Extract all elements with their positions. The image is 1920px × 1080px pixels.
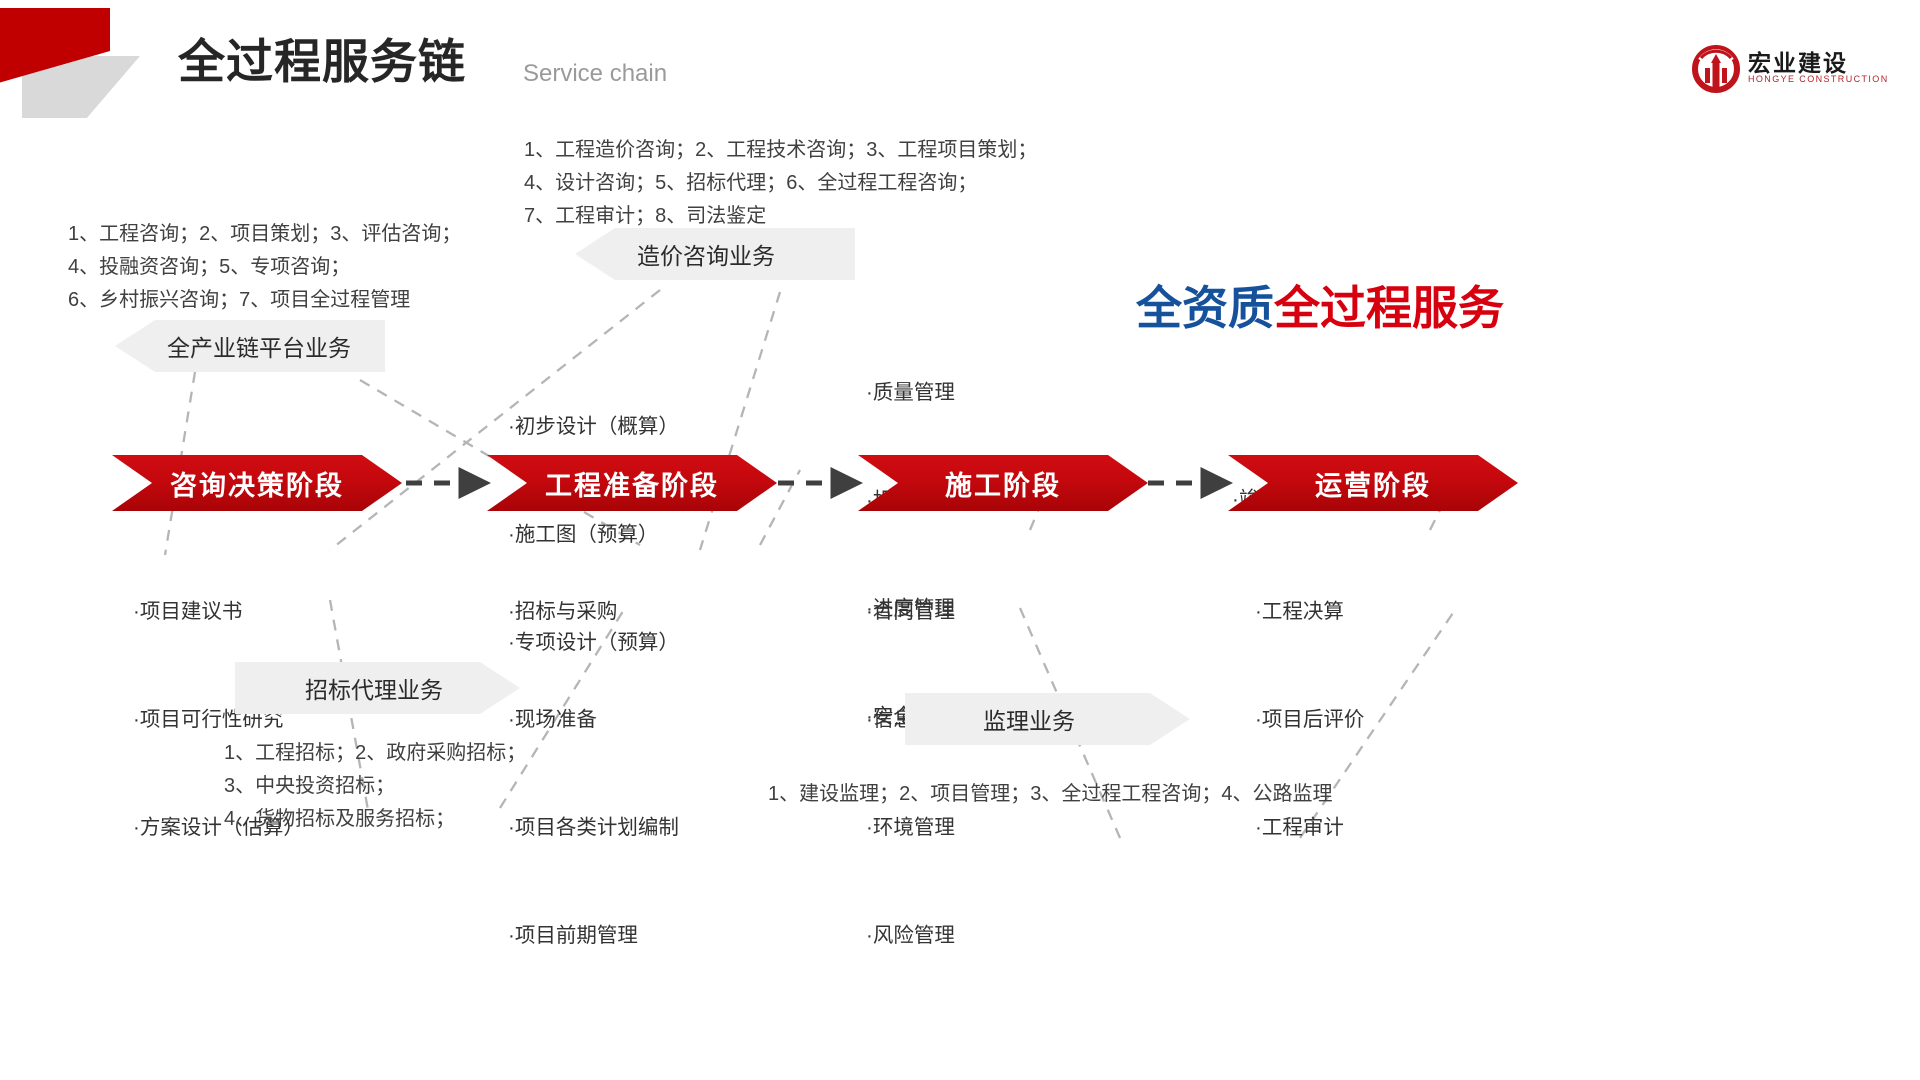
- logo-mark-icon: [1690, 42, 1742, 94]
- chevron-full-chain-platform[interactable]: 全产业链平台业务: [115, 320, 385, 372]
- slogan-blue-text: 全资质: [1136, 282, 1274, 334]
- note-full-chain: 1、工程咨询；2、项目策划；3、评估咨询； 4、投融资咨询；5、专项咨询； 6、…: [68, 218, 461, 317]
- stage-arrow-1[interactable]: 咨询决策阶段: [112, 455, 402, 511]
- list-item: ·项目各类计划编制: [508, 810, 679, 846]
- chevron-bidding-agency-label: 招标代理业务: [305, 671, 443, 705]
- page-subtitle: Service chain: [523, 60, 667, 88]
- chevron-cost-consulting[interactable]: 造价咨询业务: [575, 228, 855, 280]
- stage-arrow-4[interactable]: 运营阶段: [1228, 455, 1518, 511]
- stage-arrow-2[interactable]: 工程准备阶段: [487, 455, 777, 511]
- list-item: ·工程审计: [1255, 810, 1364, 846]
- list-below-stage2: ·招标与采购 ·现场准备 ·项目各类计划编制 ·项目前期管理: [508, 522, 679, 1026]
- list-below-stage1: ·项目建议书 ·项目可行性研究 ·方案设计（估算）: [133, 522, 304, 918]
- chevron-supervision-label: 监理业务: [983, 702, 1075, 736]
- list-item: ·项目前期管理: [508, 918, 679, 954]
- stage-arrow-2-label: 工程准备阶段: [545, 464, 719, 503]
- slogan-red-text: 全过程服务: [1274, 282, 1504, 334]
- list-item: ·项目建议书: [133, 594, 304, 630]
- list-item: ·项目后评价: [1255, 702, 1364, 738]
- slogan: 全资质全过程服务: [1136, 285, 1504, 331]
- list-item: ·质量管理: [866, 375, 955, 411]
- chevron-cost-consulting-label: 造价咨询业务: [637, 237, 775, 271]
- list-item: ·环境管理: [866, 810, 955, 846]
- note-supervision: 1、建设监理；2、项目管理；3、全过程工程咨询；4、公路监理: [768, 778, 1333, 811]
- list-item: ·合同管理: [866, 594, 955, 630]
- stage-arrow-3[interactable]: 施工阶段: [858, 455, 1148, 511]
- list-item: ·风险管理: [866, 918, 955, 954]
- list-below-stage3: ·合同管理 ·信息管理 ·环境管理 ·风险管理: [866, 522, 955, 1026]
- note-bidding-agency: 1、工程招标；2、政府采购招标； 3、中央投资招标； 4、货物招标及服务招标；: [224, 737, 526, 836]
- list-item: ·现场准备: [508, 702, 679, 738]
- logo-company-name-cn: 宏业建设: [1748, 44, 1848, 78]
- note-cost-consulting: 1、工程造价咨询；2、工程技术咨询；3、工程项目策划； 4、设计咨询；5、招标代…: [524, 134, 1037, 233]
- chevron-bidding-agency[interactable]: 招标代理业务: [235, 662, 520, 714]
- company-logo: 宏业建设 HONGYE CONSTRUCTION: [1690, 42, 1900, 98]
- page-title: 全过程服务链: [178, 38, 466, 85]
- stage-arrow-1-label: 咨询决策阶段: [170, 464, 344, 503]
- list-item: ·初步设计（概算）: [508, 409, 679, 445]
- stage-arrow-4-label: 运营阶段: [1315, 464, 1431, 503]
- chevron-supervision[interactable]: 监理业务: [905, 693, 1190, 745]
- stage-arrow-3-label: 施工阶段: [945, 464, 1061, 503]
- list-item: ·工程决算: [1255, 594, 1364, 630]
- slide-canvas: 全过程服务链 Service chain 宏业建设 HONGYE CONSTRU…: [0, 0, 1920, 1080]
- chevron-full-chain-platform-label: 全产业链平台业务: [167, 329, 351, 363]
- list-below-stage4: ·工程决算 ·项目后评价 ·工程审计: [1255, 522, 1364, 918]
- logo-company-name-en: HONGYE CONSTRUCTION: [1748, 74, 1889, 84]
- list-item: ·招标与采购: [508, 594, 679, 630]
